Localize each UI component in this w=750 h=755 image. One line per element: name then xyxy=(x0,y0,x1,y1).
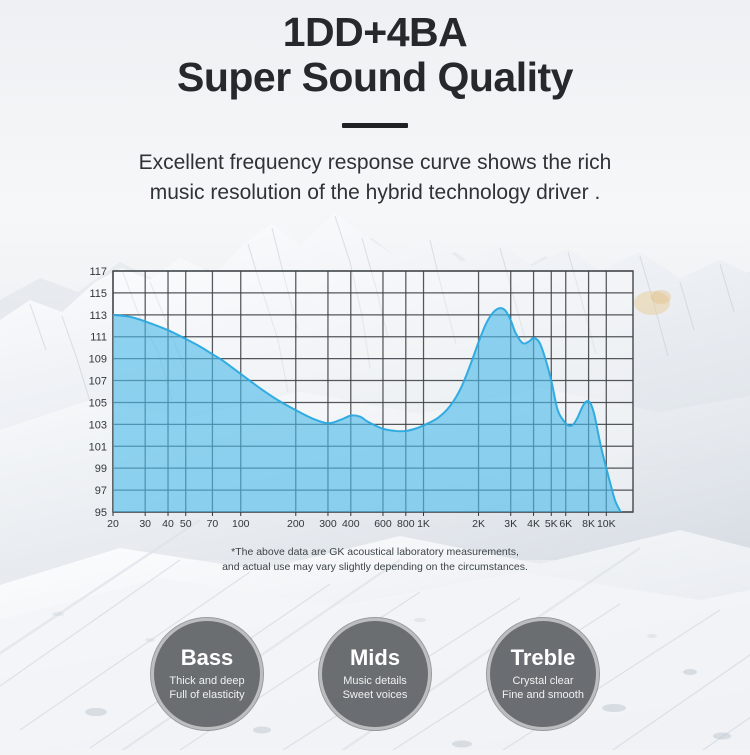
feature-circle-treble[interactable]: Treble Crystal clear Fine and smooth xyxy=(487,618,599,730)
y-axis-tick-label: 109 xyxy=(89,354,107,366)
chart-footnote: *The above data are GK acoustical labora… xyxy=(0,545,750,575)
x-axis-tick-label: 300 xyxy=(319,518,337,530)
y-axis-tick-label: 105 xyxy=(89,397,107,409)
feature-title: Bass xyxy=(181,646,234,670)
x-axis-tick-label: 8K xyxy=(582,518,595,530)
feature-line-2: Full of elasticity xyxy=(169,688,244,702)
x-axis-tick-label: 6K xyxy=(559,518,572,530)
x-axis-tick-label: 2K xyxy=(472,518,485,530)
feature-circle-bass[interactable]: Bass Thick and deep Full of elasticity xyxy=(151,618,263,730)
y-axis-tick-label: 113 xyxy=(89,310,107,322)
y-axis-tick-label: 97 xyxy=(95,485,107,497)
chart-x-axis-labels: 20304050701002003004006008001K2K3K4K5K6K… xyxy=(107,512,615,530)
y-axis-tick-label: 107 xyxy=(89,376,107,388)
chart-y-axis-labels: 117115113111109107105103101999795 xyxy=(89,266,107,519)
feature-title: Treble xyxy=(511,646,576,670)
feature-line-2: Fine and smooth xyxy=(502,688,584,702)
y-axis-tick-label: 99 xyxy=(95,463,107,475)
y-axis-tick-label: 117 xyxy=(89,266,107,278)
feature-line-1: Music details xyxy=(343,674,407,688)
y-axis-tick-label: 111 xyxy=(90,332,107,344)
feature-title: Mids xyxy=(350,646,400,670)
x-axis-tick-label: 50 xyxy=(180,518,192,530)
feature-circle-group: Bass Thick and deep Full of elasticity M… xyxy=(0,618,750,738)
y-axis-tick-label: 101 xyxy=(89,441,107,453)
x-axis-tick-label: 10K xyxy=(597,518,616,530)
feature-line-2: Sweet voices xyxy=(343,688,408,702)
y-axis-tick-label: 95 xyxy=(95,507,107,519)
feature-line-1: Thick and deep xyxy=(169,674,244,688)
x-axis-tick-label: 3K xyxy=(504,518,517,530)
x-axis-tick-label: 1K xyxy=(417,518,430,530)
x-axis-tick-label: 100 xyxy=(232,518,250,530)
x-axis-tick-label: 30 xyxy=(139,518,151,530)
y-axis-tick-label: 103 xyxy=(89,419,107,431)
x-axis-tick-label: 400 xyxy=(342,518,360,530)
x-axis-tick-label: 20 xyxy=(107,518,119,530)
x-axis-tick-label: 4K xyxy=(527,518,540,530)
x-axis-tick-label: 800 xyxy=(397,518,415,530)
x-axis-tick-label: 600 xyxy=(374,518,392,530)
footnote-line1: *The above data are GK acoustical labora… xyxy=(0,545,750,560)
footnote-line2: and actual use may vary slightly dependi… xyxy=(0,560,750,575)
feature-circle-mids[interactable]: Mids Music details Sweet voices xyxy=(319,618,431,730)
feature-line-1: Crystal clear xyxy=(512,674,573,688)
x-axis-tick-label: 5K xyxy=(545,518,558,530)
y-axis-tick-label: 115 xyxy=(89,288,107,300)
x-axis-tick-label: 200 xyxy=(287,518,305,530)
x-axis-tick-label: 70 xyxy=(207,518,219,530)
x-axis-tick-label: 40 xyxy=(162,518,174,530)
